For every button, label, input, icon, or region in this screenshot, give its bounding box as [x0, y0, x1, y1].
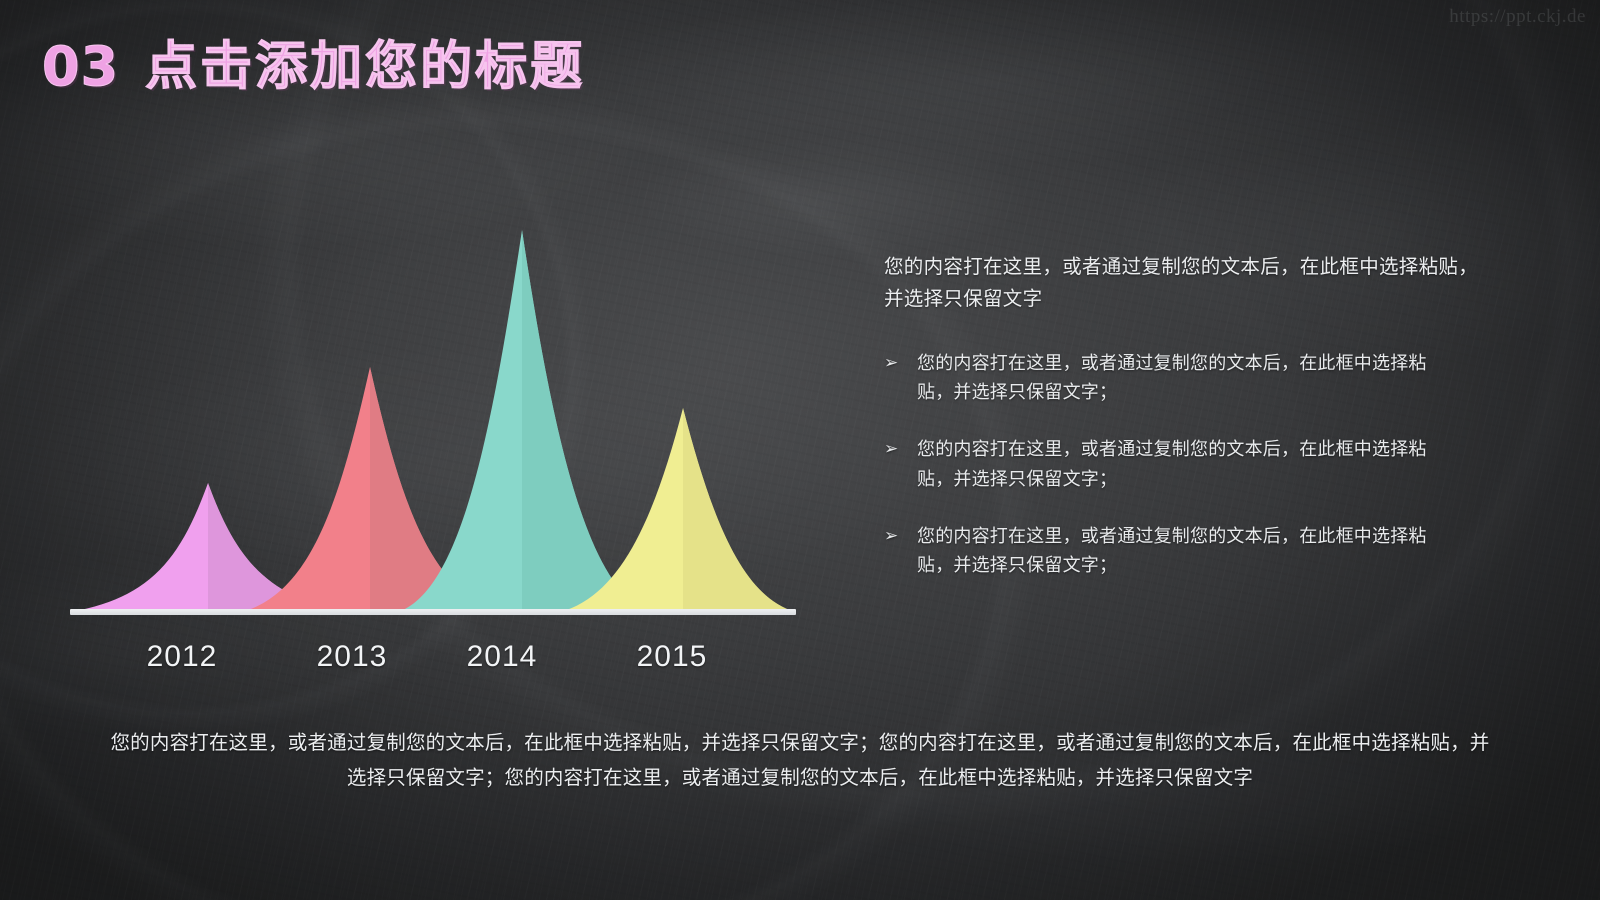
watermark: https://ppt.ckj.de [1449, 6, 1586, 28]
spire-2015 [560, 200, 860, 620]
bullet-list: ➢ 您的内容打在这里，或者通过复制您的文本后，在此框中选择粘贴，并选择只保留文字… [884, 349, 1484, 580]
spire-2012 [70, 200, 508, 620]
x-tick-2014: 2014 [467, 640, 538, 674]
spire-2014 [398, 200, 822, 620]
arrow-bullet-icon: ➢ [884, 435, 902, 463]
arrow-bullet-icon: ➢ [884, 349, 902, 377]
list-item: ➢ 您的内容打在这里，或者通过复制您的文本后，在此框中选择粘贴，并选择只保留文字… [884, 435, 1484, 493]
bullet-text: 您的内容打在这里，或者通过复制您的文本后，在此框中选择粘贴，并选择只保留文字； [917, 435, 1462, 493]
content-panel: 您的内容打在这里，或者通过复制您的文本后，在此框中选择粘贴，并选择只保留文字 ➢… [884, 252, 1484, 608]
slide-canvas: https://ppt.ckj.de 03 点击添加您的标题 [0, 0, 1600, 900]
list-item: ➢ 您的内容打在这里，或者通过复制您的文本后，在此框中选择粘贴，并选择只保留文字… [884, 349, 1484, 407]
x-tick-2015: 2015 [637, 640, 708, 674]
list-item: ➢ 您的内容打在这里，或者通过复制您的文本后，在此框中选择粘贴，并选择只保留文字… [884, 522, 1484, 580]
chart-x-axis-labels: 2012 2013 2014 2015 [0, 640, 860, 686]
footer-paragraph: 您的内容打在这里，或者通过复制您的文本后，在此框中选择粘贴，并选择只保留文字；您… [110, 726, 1490, 795]
x-tick-2013: 2013 [317, 640, 388, 674]
spire-chart-svg [0, 0, 860, 700]
arrow-bullet-icon: ➢ [884, 522, 902, 550]
bullet-text: 您的内容打在这里，或者通过复制您的文本后，在此框中选择粘贴，并选择只保留文字； [917, 522, 1462, 580]
x-tick-2012: 2012 [147, 640, 218, 674]
lead-paragraph: 您的内容打在这里，或者通过复制您的文本后，在此框中选择粘贴，并选择只保留文字 [884, 252, 1484, 315]
chart-baseline-axis [70, 609, 796, 615]
bullet-text: 您的内容打在这里，或者通过复制您的文本后，在此框中选择粘贴，并选择只保留文字； [917, 349, 1462, 407]
